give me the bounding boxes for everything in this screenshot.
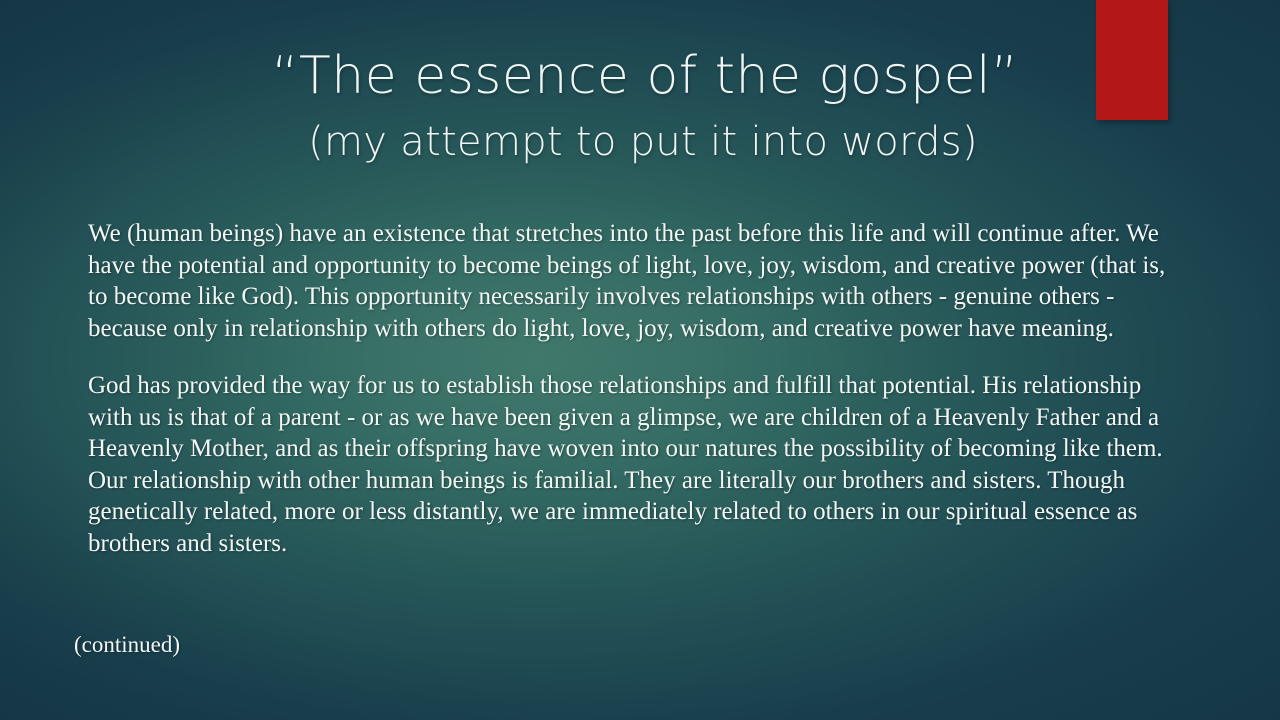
body-paragraph-2: God has provided the way for us to estab… — [88, 370, 1186, 559]
slide-title-primary: “The essence of the gospel” — [0, 48, 1280, 104]
slide-title-secondary: (my attempt to put it into words) — [0, 120, 1280, 165]
slide-canvas: “The essence of the gospel” (my attempt … — [0, 0, 1280, 720]
slide-body: We (human beings) have an existence that… — [88, 218, 1186, 559]
continued-label: (continued) — [74, 631, 180, 659]
slide-title-block: “The essence of the gospel” (my attempt … — [0, 48, 1280, 165]
body-paragraph-1: We (human beings) have an existence that… — [88, 218, 1186, 344]
